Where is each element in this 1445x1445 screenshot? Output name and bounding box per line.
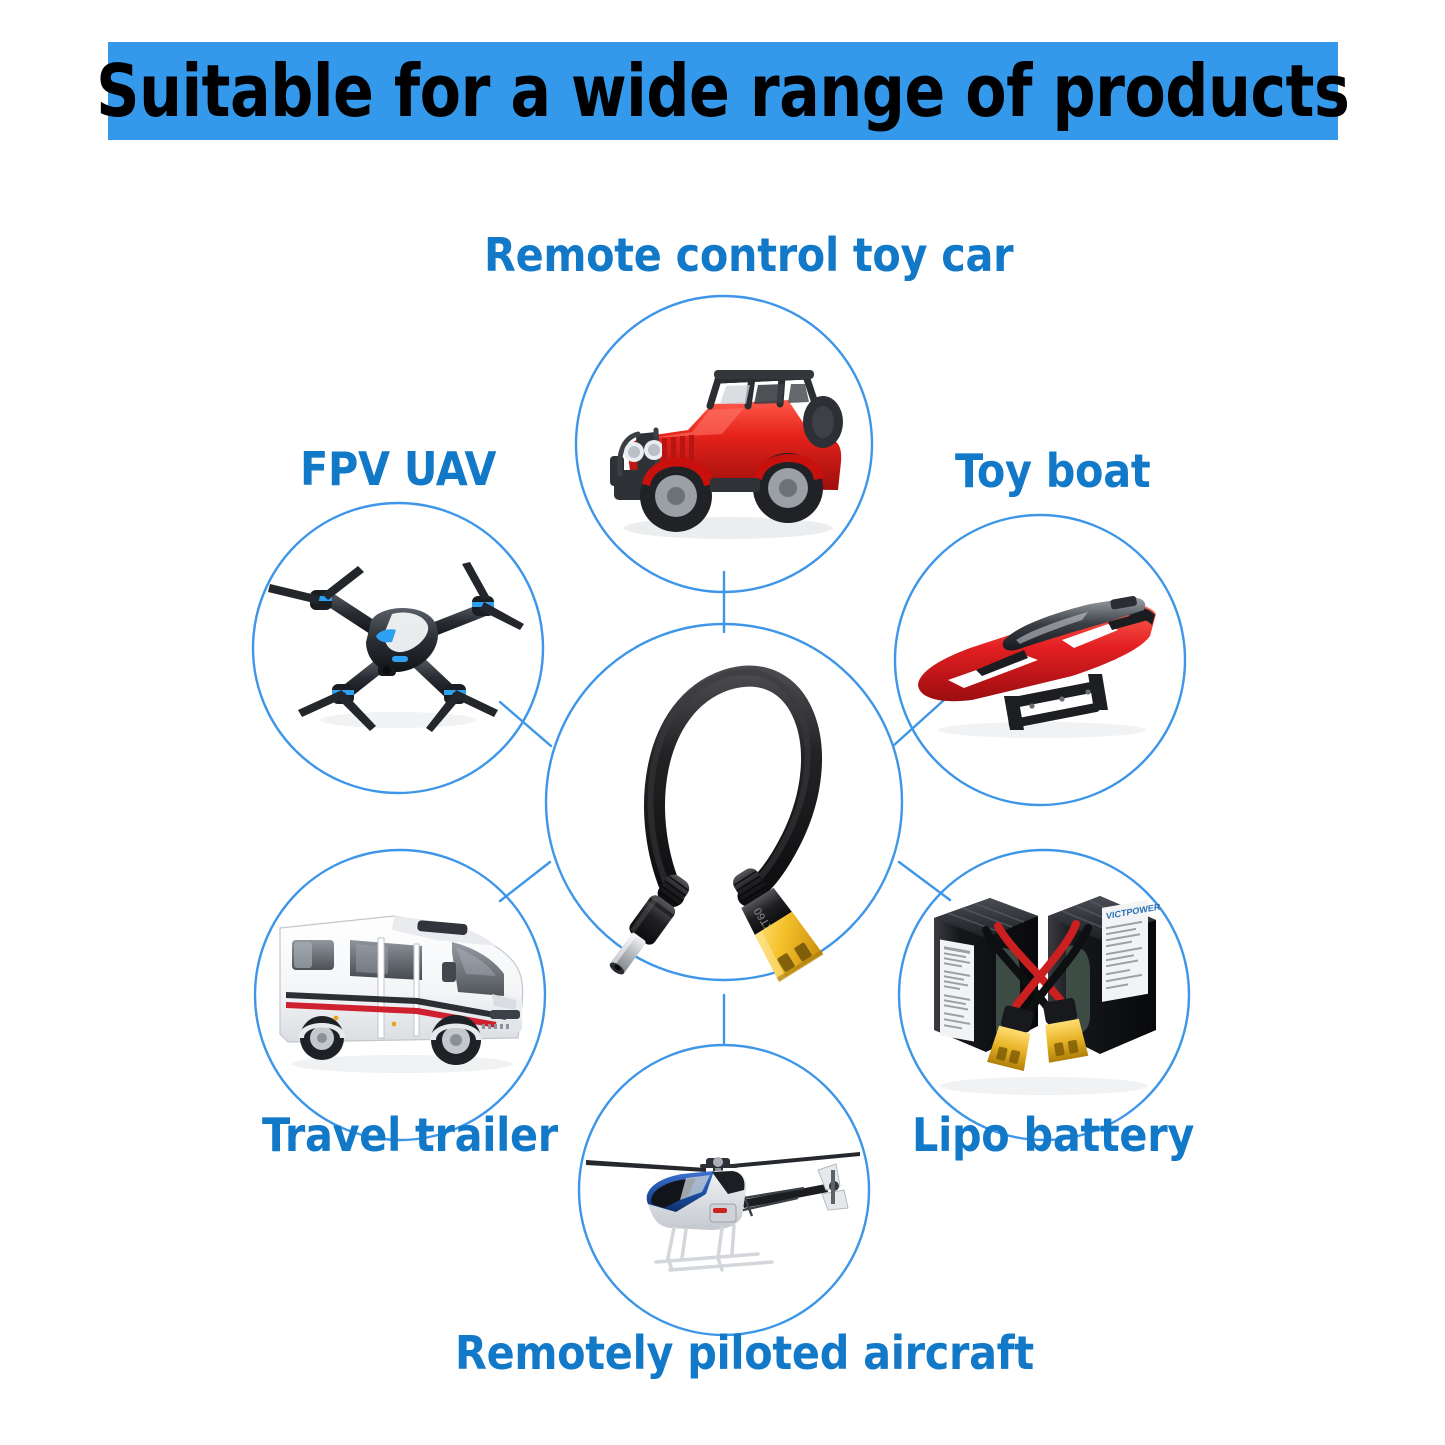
infographic-canvas: Suitable for a wide range of products Re… [0,0,1445,1445]
rv-motorhome-image [266,888,536,1088]
label-remote-control-toy-car: Remote control toy car [484,228,1013,282]
label-travel-trailer: Travel trailer [262,1108,558,1162]
label-fpv-uav: FPV UAV [300,442,496,496]
helicopter-image [582,1112,866,1276]
label-toy-boat: Toy boat [955,444,1150,498]
dc-to-xt60-adapter-cable-image: XT60 [578,628,878,958]
quadcopter-image [266,560,530,736]
label-remotely-piloted-aircraft: Remotely piloted aircraft [455,1326,1034,1380]
lipo-battery-image: VICTPOWER [920,880,1170,1100]
toy-car-image [592,338,860,550]
toy-boat-image [912,578,1170,748]
label-lipo-battery: Lipo battery [912,1108,1194,1162]
